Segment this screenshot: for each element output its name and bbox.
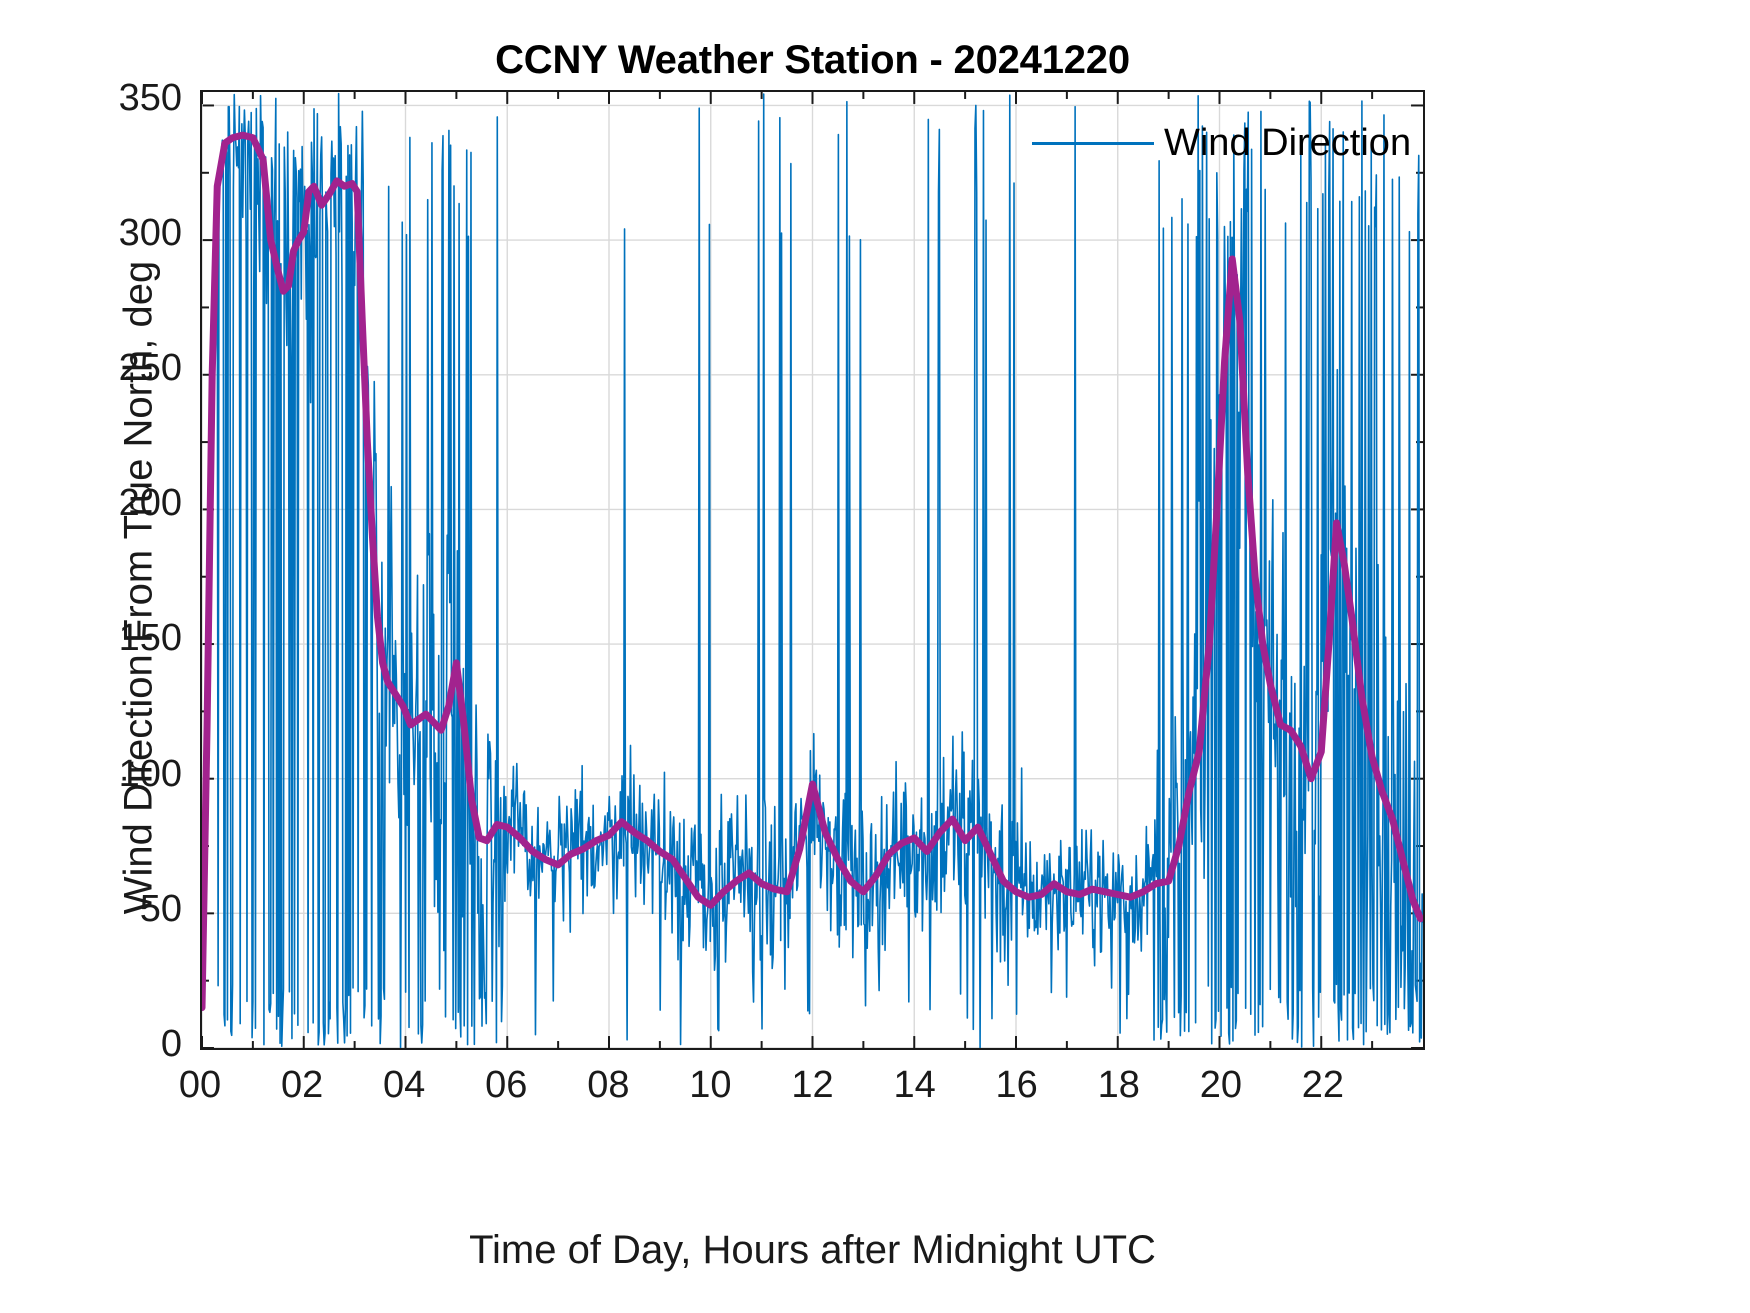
page-title: CCNY Weather Station - 20241220 bbox=[200, 38, 1425, 83]
x-tick-label: 02 bbox=[281, 1064, 323, 1107]
x-tick-label: 08 bbox=[587, 1064, 629, 1107]
legend-swatch-wind-direction bbox=[1032, 142, 1154, 145]
x-tick-label: 14 bbox=[893, 1064, 935, 1107]
x-tick-label: 00 bbox=[179, 1064, 221, 1107]
x-axis-label: Time of Day, Hours after Midnight UTC bbox=[200, 1228, 1425, 1273]
plot-area bbox=[200, 90, 1425, 1050]
legend-label-wind-direction: Wind Direction bbox=[1164, 122, 1411, 165]
x-tick-label: 22 bbox=[1302, 1064, 1344, 1107]
x-tick-label: 20 bbox=[1200, 1064, 1242, 1107]
x-tick-label: 10 bbox=[689, 1064, 731, 1107]
x-tick-label: 04 bbox=[383, 1064, 425, 1107]
x-tick-label: 18 bbox=[1098, 1064, 1140, 1107]
legend: Wind Direction bbox=[1032, 122, 1411, 165]
series-layer bbox=[202, 92, 1423, 1048]
y-axis-label: Wind Direction From True North, deg bbox=[117, 43, 162, 1133]
chart-figure: CCNY Weather Station - 20241220 05010015… bbox=[0, 0, 1750, 1313]
x-tick-label: 16 bbox=[996, 1064, 1038, 1107]
x-tick-label: 06 bbox=[485, 1064, 527, 1107]
x-tick-label: 12 bbox=[791, 1064, 833, 1107]
